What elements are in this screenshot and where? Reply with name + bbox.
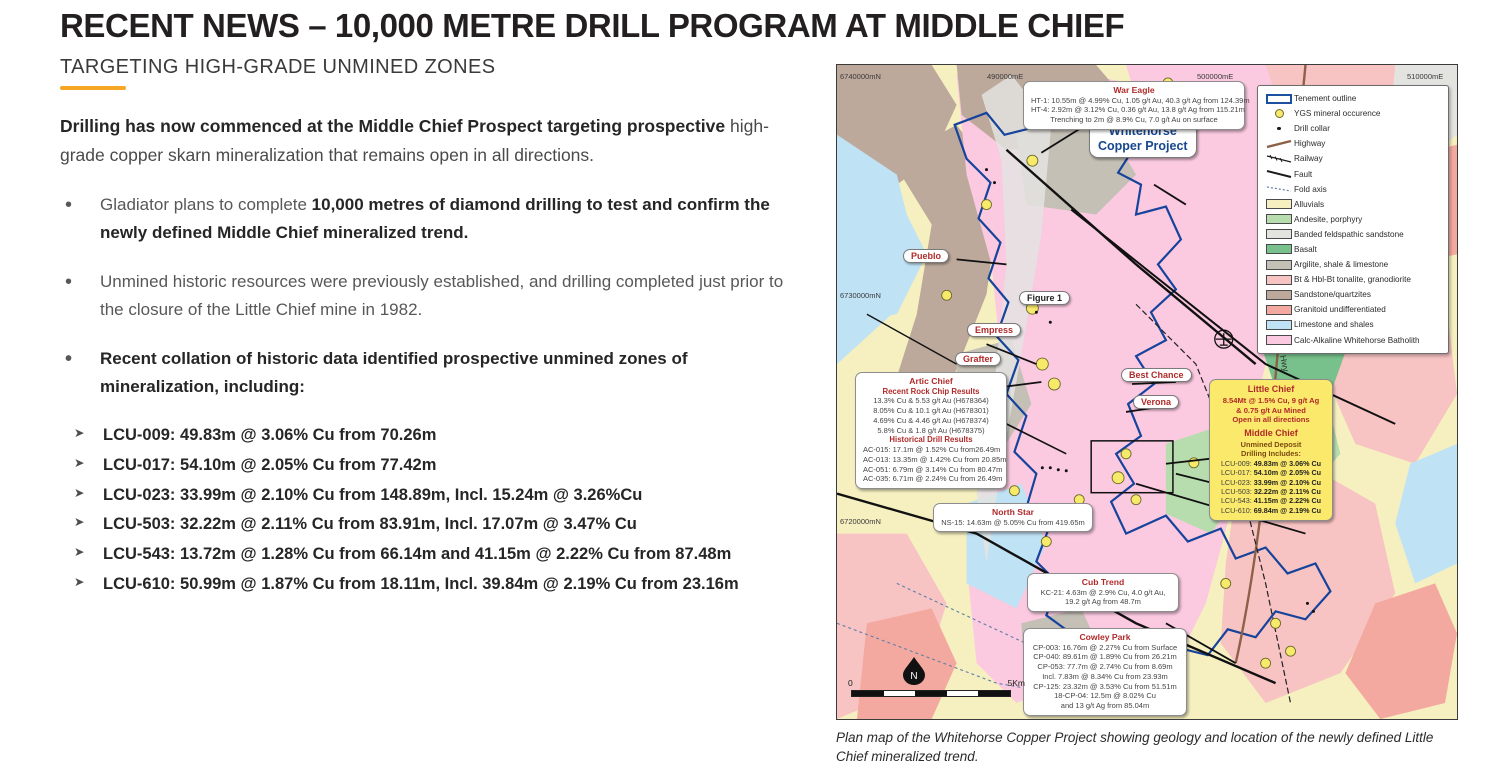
pill-best-chance[interactable]: Best Chance <box>1121 368 1192 382</box>
callout-war-eagle[interactable]: War Eagle HT-1: 10.55m @ 4.99% Cu, 1.05 … <box>1023 81 1245 130</box>
callout-line: 4.69% Cu & 4.46 g/t Au (H678374) <box>863 416 999 426</box>
highlight-row: LCU-610: 69.84m @ 2.19% Cu <box>1216 506 1326 515</box>
callout-line: Trenching to 2m @ 8.9% Cu, 7.0 g/t Au on… <box>1031 115 1237 125</box>
callout-artic-chief[interactable]: Artic Chief Recent Rock Chip Results 13.… <box>855 372 1007 489</box>
lead-bold-text: Drilling has now commenced at the Middle… <box>60 116 725 136</box>
map-caption: Plan map of the Whitehorse Copper Projec… <box>836 729 1436 766</box>
callout-heading: Artic Chief <box>863 376 999 387</box>
highlight-sub-line: & 0.75 g/t Au Mined <box>1216 406 1326 416</box>
list-item: LCU-610: 50.99m @ 1.87% Cu from 18.11m, … <box>60 571 820 598</box>
highlight-hole-value: 69.84m @ 2.19% Cu <box>1254 506 1321 515</box>
highlight-hole-id: LCU-610: <box>1221 506 1252 515</box>
legend-label: Granitoid undifferentiated <box>1294 305 1386 314</box>
legend-item: Banded feldspathic sandstone <box>1264 227 1442 242</box>
callout-line: 5.8% Cu & 1.8 g/t Au (H678375) <box>863 426 999 436</box>
callout-line: AC-013: 13.35m @ 1.42% Cu from 20.85m <box>863 455 999 465</box>
list-item: LCU-017: 54.10m @ 2.05% Cu from 77.42m <box>60 452 820 479</box>
bullet-plain-text: Unmined historic resources were previous… <box>100 272 783 319</box>
granitoid-swatch <box>1264 305 1294 315</box>
coord-north-mid: 6730000mN <box>840 291 881 300</box>
list-item: Recent collation of historic data identi… <box>60 345 805 400</box>
bullet-plain-text: Gladiator plans to complete <box>100 195 312 214</box>
highlight-hole-value: 41.15m @ 2.22% Cu <box>1254 496 1321 505</box>
callout-line: CP-003: 16.76m @ 2.27% Cu from Surface <box>1031 643 1179 653</box>
legend-label: Banded feldspathic sandstone <box>1294 230 1404 239</box>
callout-heading: Cowley Park <box>1031 632 1179 643</box>
legend-item: Argilite, shale & limestone <box>1264 257 1442 272</box>
pill-empress[interactable]: Empress <box>967 323 1021 337</box>
coord-east-mid: 500000mE <box>1197 72 1233 81</box>
highlight-row: LCU-017: 54.10m @ 2.05% Cu <box>1216 468 1326 477</box>
legend-item: Andesite, porphyry <box>1264 212 1442 227</box>
highlight-row: LCU-009: 49.83m @ 3.06% Cu <box>1216 459 1326 468</box>
pill-grafter[interactable]: Grafter <box>955 352 1001 366</box>
list-item: Unmined historic resources were previous… <box>60 268 805 323</box>
railway-icon <box>1264 154 1294 164</box>
list-item: LCU-543: 13.72m @ 1.28% Cu from 66.14m a… <box>60 541 820 568</box>
callout-cowley-park[interactable]: Cowley Park CP-003: 16.76m @ 2.27% Cu fr… <box>1023 628 1187 716</box>
legend-item: Drill collar <box>1264 121 1442 136</box>
highlight-row: LCU-023: 33.99m @ 2.10% Cu <box>1216 478 1326 487</box>
argilite-swatch <box>1264 260 1294 270</box>
highlight-sub-line: Open in all directions <box>1216 415 1326 425</box>
legend-item: Granitoid undifferentiated <box>1264 302 1442 317</box>
banded-sandstone-swatch <box>1264 229 1294 239</box>
legend-label: Alluvials <box>1294 200 1324 209</box>
alluvials-swatch <box>1264 199 1294 209</box>
highlight-sub-line: Unmined Deposit <box>1216 440 1326 449</box>
bullet-bold-text: Recent collation of historic data identi… <box>100 349 688 396</box>
map-column: 6740000mN 6730000mN 6720000mN 490000mE 5… <box>836 64 1460 766</box>
highlight-title-2: Middle Chief <box>1216 428 1326 440</box>
drill-collar-icon <box>1264 127 1294 131</box>
highlight-hole-id: LCU-009: <box>1221 459 1252 468</box>
highlight-hole-id: LCU-543: <box>1221 496 1252 505</box>
callout-line: HT-1: 10.55m @ 4.99% Cu, 1.05 g/t Au, 40… <box>1031 96 1237 106</box>
callout-line: and 13 g/t Ag from 85.04m <box>1031 701 1179 711</box>
map-legend: Tenement outline YGS mineral occurence D… <box>1257 85 1449 354</box>
legend-item: Bt & Hbl-Bt tonalite, granodiorite <box>1264 272 1442 287</box>
legend-label: YGS mineral occurence <box>1294 109 1380 118</box>
left-content-column: RECENT NEWS – 10,000 METRE DRILL PROGRAM… <box>60 8 820 600</box>
callout-line: CP-125: 23.32m @ 3.53% Cu from 51.51m <box>1031 682 1179 692</box>
list-item: LCU-503: 32.22m @ 2.11% Cu from 83.91m, … <box>60 511 820 538</box>
callout-line: 8.05% Cu & 10.1 g/t Au (H678301) <box>863 406 999 416</box>
callout-line: KC-21: 4.63m @ 2.9% Cu, 4.0 g/t Au, <box>1035 588 1171 598</box>
legend-item: Railway <box>1264 151 1442 166</box>
callout-subheading: Historical Drill Results <box>863 435 999 445</box>
callout-north-star[interactable]: North Star NS-15: 14.63m @ 5.05% Cu from… <box>933 503 1093 532</box>
drill-results-wrapper: LCU-009: 49.83m @ 3.06% Cu from 70.26m L… <box>60 422 820 597</box>
callout-line: AC-015: 17.1m @ 1.52% Cu from26.49m <box>863 445 999 455</box>
highlight-hole-value: 32.22m @ 2.11% Cu <box>1254 487 1321 496</box>
project-title-line2: Copper Project <box>1098 139 1188 153</box>
legend-label: Sandstone/quartzites <box>1294 290 1371 299</box>
page-subtitle: TARGETING HIGH-GRADE UNMINED ZONES <box>60 56 820 79</box>
slide-root: RECENT NEWS – 10,000 METRE DRILL PROGRAM… <box>0 0 1500 774</box>
legend-item: Basalt <box>1264 242 1442 257</box>
legend-item: Sandstone/quartzites <box>1264 287 1442 302</box>
fold-axis-icon <box>1264 184 1294 194</box>
legend-item: YGS mineral occurence <box>1264 106 1442 121</box>
callout-line: HT-4: 2.92m @ 3.12% Cu, 0.36 g/t Au, 13.… <box>1031 105 1237 115</box>
callout-line: NS-15: 14.63m @ 5.05% Cu from 419.65m <box>941 518 1085 528</box>
callout-line: 13.3% Cu & 5.53 g/t Au (H678364) <box>863 396 999 406</box>
callout-line: AC-051: 6.79m @ 3.14% Cu from 80.47m <box>863 465 999 475</box>
callout-line: 19.2 g/t Ag from 48.7m <box>1035 597 1171 607</box>
highlight-hole-id: LCU-017: <box>1221 468 1252 477</box>
legend-label: Fold axis <box>1294 185 1327 194</box>
callout-heading: Cub Trend <box>1035 577 1171 588</box>
callout-line: Incl. 7.83m @ 8.34% Cu from 23.93m <box>1031 672 1179 682</box>
list-item: LCU-009: 49.83m @ 3.06% Cu from 70.26m <box>60 422 820 449</box>
callout-line: AC-035: 6.71m @ 2.24% Cu from 26.49m <box>863 474 999 484</box>
legend-label: Argilite, shale & limestone <box>1294 260 1388 269</box>
legend-label: Highway <box>1294 139 1325 148</box>
scale-labels: 0 5Km <box>851 678 1011 690</box>
callout-line: 18-CP-04: 12.5m @ 8.02% Cu <box>1031 691 1179 701</box>
pill-pueblo[interactable]: Pueblo <box>903 249 949 263</box>
legend-label: Andesite, porphyry <box>1294 215 1362 224</box>
highlight-row: LCU-543: 41.15m @ 2.22% Cu <box>1216 496 1326 505</box>
drill-intercept-list: LCU-009: 49.83m @ 3.06% Cu from 70.26m L… <box>60 422 820 597</box>
callout-cub-trend[interactable]: Cub Trend KC-21: 4.63m @ 2.9% Cu, 4.0 g/… <box>1027 573 1179 612</box>
map-scale-bar: 0 5Km <box>851 678 1011 697</box>
highlight-box-little-middle-chief[interactable]: Little Chief 8.54Mt @ 1.5% Cu, 9 g/t Ag … <box>1209 379 1333 521</box>
coord-north-top: 6740000mN <box>840 72 881 81</box>
legend-item: Tenement outline <box>1264 91 1442 106</box>
highlight-title-1: Little Chief <box>1216 384 1326 396</box>
highlight-row: LCU-503: 32.22m @ 2.11% Cu <box>1216 487 1326 496</box>
callout-line: CP-053: 77.7m @ 2.74% Cu from 8.69m <box>1031 662 1179 672</box>
highlight-hole-value: 49.83m @ 3.06% Cu <box>1254 459 1321 468</box>
legend-item: Alluvials <box>1264 197 1442 212</box>
tonalite-swatch <box>1264 275 1294 285</box>
highlight-hole-id: LCU-023: <box>1221 478 1252 487</box>
highlight-sub-line: Drilling Includes: <box>1216 449 1326 458</box>
fault-icon <box>1264 169 1294 179</box>
legend-item: Fault <box>1264 166 1442 181</box>
pill-figure-1[interactable]: Figure 1 <box>1019 291 1070 305</box>
bullet-list: Gladiator plans to complete 10,000 metre… <box>60 191 820 400</box>
legend-label: Calc-Alkaline Whitehorse Batholith <box>1294 336 1420 345</box>
scale-max-label: 5Km <box>1008 678 1025 688</box>
highlight-hole-value: 54.10m @ 2.05% Cu <box>1254 468 1321 477</box>
highlight-hole-id: LCU-503: <box>1221 487 1252 496</box>
highlight-hole-value: 33.99m @ 2.10% Cu <box>1254 478 1321 487</box>
scale-ticks <box>851 690 1011 697</box>
legend-label: Bt & Hbl-Bt tonalite, granodiorite <box>1294 275 1411 284</box>
legend-label: Limestone and shales <box>1294 320 1374 329</box>
legend-item: Limestone and shales <box>1264 317 1442 332</box>
basalt-swatch <box>1264 244 1294 254</box>
legend-item: Fold axis <box>1264 182 1442 197</box>
coord-east-right: 510000mE <box>1407 72 1443 81</box>
legend-label: Basalt <box>1294 245 1317 254</box>
scale-min-label: 0 <box>848 678 853 688</box>
highlight-sub-line: 8.54Mt @ 1.5% Cu, 9 g/t Ag <box>1216 396 1326 406</box>
page-title: RECENT NEWS – 10,000 METRE DRILL PROGRAM… <box>60 8 820 44</box>
sandstone-quartzite-swatch <box>1264 290 1294 300</box>
legend-label: Tenement outline <box>1294 94 1356 103</box>
callout-line: CP-040: 89.61m @ 1.89% Cu from 26.21m <box>1031 652 1179 662</box>
pill-verona[interactable]: Verona <box>1133 395 1179 409</box>
batholith-swatch <box>1264 335 1294 345</box>
legend-label: Railway <box>1294 154 1323 163</box>
coord-north-bottom: 6720000mN <box>840 517 881 526</box>
callout-heading: War Eagle <box>1031 85 1237 96</box>
highway-icon <box>1264 139 1294 149</box>
coord-east-left: 490000mE <box>987 72 1023 81</box>
geology-map[interactable]: 6740000mN 6730000mN 6720000mN 490000mE 5… <box>836 64 1458 720</box>
list-item: Gladiator plans to complete 10,000 metre… <box>60 191 805 246</box>
legend-label: Fault <box>1294 170 1312 179</box>
limestone-swatch <box>1264 320 1294 330</box>
callout-subheading: Recent Rock Chip Results <box>863 387 999 397</box>
accent-rule <box>60 86 126 90</box>
andesite-swatch <box>1264 214 1294 224</box>
legend-item: Highway <box>1264 136 1442 151</box>
list-item: LCU-023: 33.99m @ 2.10% Cu from 148.89m,… <box>60 482 820 509</box>
lead-paragraph: Drilling has now commenced at the Middle… <box>60 112 800 169</box>
legend-label: Drill collar <box>1294 124 1330 133</box>
mineral-occurrence-icon <box>1264 109 1294 118</box>
tenement-outline-icon <box>1264 94 1294 104</box>
callout-heading: North Star <box>941 507 1085 518</box>
legend-item: Calc-Alkaline Whitehorse Batholith <box>1264 333 1442 348</box>
